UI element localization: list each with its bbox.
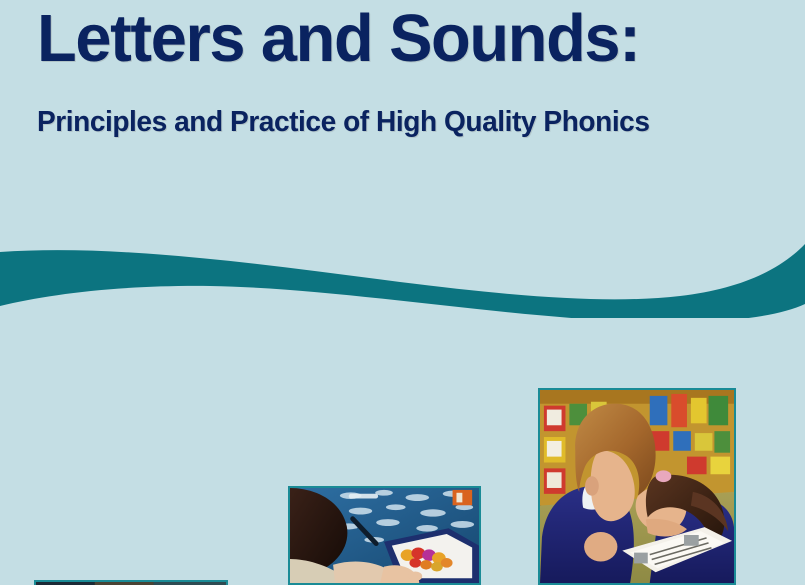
- page-subtitle: Principles and Practice of High Quality …: [37, 105, 650, 139]
- photo-bottom-left-partial: [34, 580, 228, 585]
- wave-shape: [0, 244, 805, 318]
- photo-children-reading: [538, 388, 736, 585]
- decorative-wave-band: [0, 238, 805, 318]
- photo-child-letter-tiles-image: [290, 488, 479, 583]
- title-block: Letters and Sounds: Principles and Pract…: [37, 0, 777, 76]
- cover-page: Letters and Sounds: Principles and Pract…: [0, 0, 805, 585]
- photo-children-reading-image: [540, 390, 734, 583]
- photo-child-letter-tiles: [288, 486, 481, 585]
- page-title: Letters and Sounds:: [37, 0, 755, 76]
